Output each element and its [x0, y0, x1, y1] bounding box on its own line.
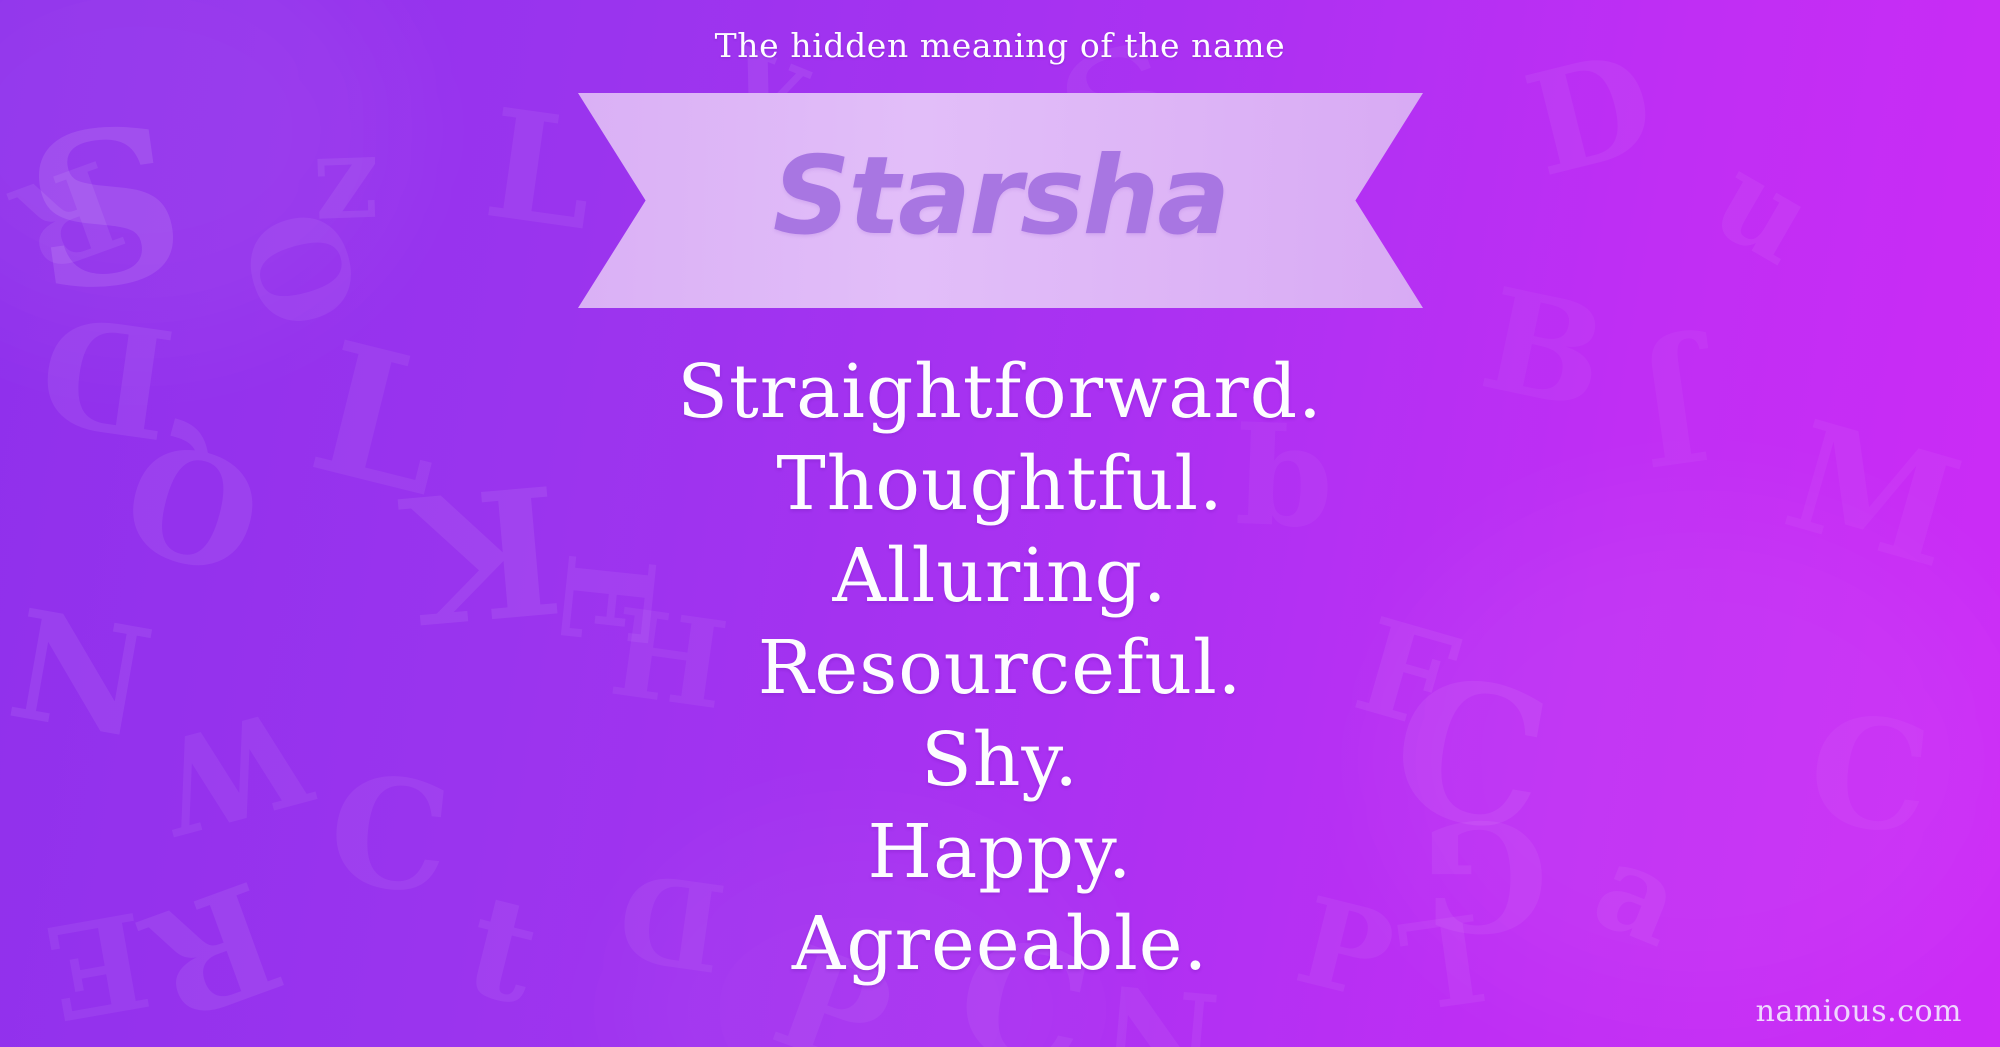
name-text: Starsha [578, 93, 1423, 308]
name-meaning-card: SRzOLySaDuDQNWLKEHCREtDPCNPLFCGaCMJBq Th… [0, 0, 2000, 1047]
trait-list: Straightforward.Thoughtful.Alluring.Reso… [0, 346, 2000, 990]
trait-line: Resourceful. [0, 622, 2000, 714]
trait-line: Agreeable. [0, 898, 2000, 990]
background-letter: S [16, 95, 195, 324]
trait-line: Shy. [0, 714, 2000, 806]
background-letter: u [1696, 136, 1832, 284]
background-letter: O [221, 198, 377, 343]
name-banner: Starsha [578, 93, 1423, 308]
site-watermark: namious.com [1756, 994, 1962, 1029]
trait-line: Thoughtful. [0, 438, 2000, 530]
trait-line: Happy. [0, 806, 2000, 898]
background-letter: z [313, 139, 382, 256]
trait-line: Straightforward. [0, 346, 2000, 438]
background-letter: R [0, 142, 135, 289]
page-title: The hidden meaning of the name [0, 26, 2000, 65]
trait-line: Alluring. [0, 530, 2000, 622]
